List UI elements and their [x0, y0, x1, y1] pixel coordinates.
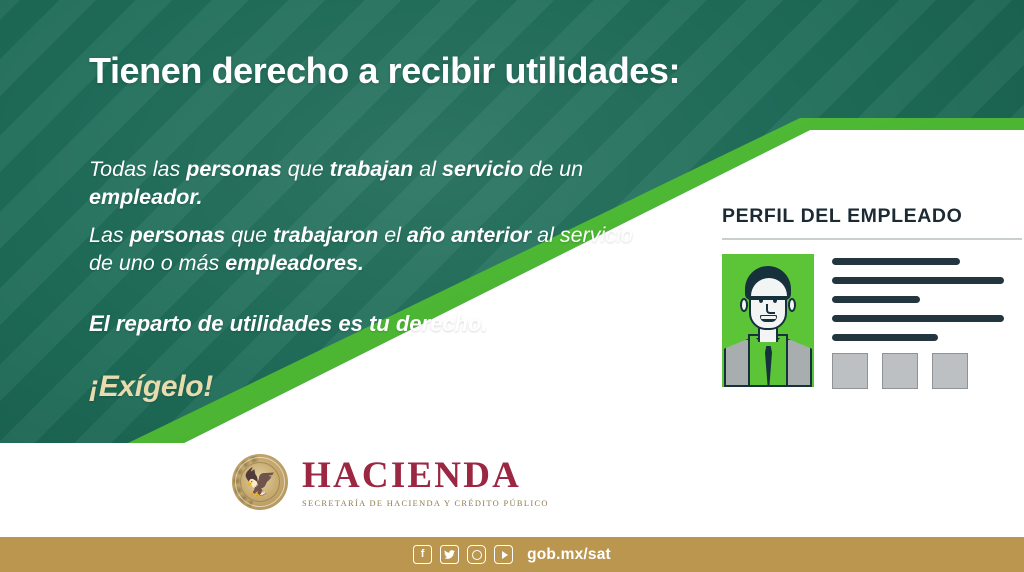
thumbnail-box	[832, 353, 868, 389]
eagle-glyph: 🦅	[243, 470, 277, 497]
paragraph-two: Las personas que trabajaron el año anter…	[89, 222, 659, 278]
youtube-icon[interactable]	[494, 545, 513, 564]
ear-right	[788, 298, 796, 312]
p2-seg5: el	[378, 223, 407, 247]
mouth	[760, 315, 777, 322]
p1-seg1: Todas las	[89, 157, 186, 181]
call-to-action-text: ¡Exígelo!	[89, 367, 213, 406]
nose	[766, 304, 775, 314]
p1-seg4: trabajan	[330, 157, 414, 181]
card-thumbnail-row	[832, 353, 1024, 389]
p1-seg8: empleador.	[89, 185, 203, 209]
paragraph-three: El reparto de utilidades es tu derecho.	[89, 310, 509, 339]
card-detail-lines	[832, 254, 1024, 389]
page-title: Tienen derecho a recibir utilidades:	[89, 50, 919, 92]
p2-seg4: trabajaron	[273, 223, 378, 247]
detail-line	[832, 258, 960, 265]
thumbnail-box	[882, 353, 918, 389]
twitter-icon[interactable]	[440, 545, 459, 564]
ear-left	[740, 298, 748, 312]
logo-strip: 🦅 HACIENDA SECRETARÍA DE HACIENDA Y CRÉD…	[0, 443, 1024, 537]
footer-bar: f gob.mx/sat	[0, 537, 1024, 572]
mexican-eagle-seal-icon: 🦅	[232, 454, 288, 510]
detail-line	[832, 334, 938, 341]
footer-url[interactable]: gob.mx/sat	[527, 546, 611, 564]
p2-seg6: año anterior	[407, 223, 531, 247]
hacienda-name: HACIENDA	[302, 457, 549, 494]
hacienda-wordmark: HACIENDA SECRETARÍA DE HACIENDA Y CRÉDIT…	[302, 457, 549, 508]
hacienda-logo: 🦅 HACIENDA SECRETARÍA DE HACIENDA Y CRÉD…	[232, 454, 549, 510]
card-title: PERFIL DEL EMPLEADO	[722, 205, 1024, 228]
facebook-glyph: f	[421, 549, 425, 560]
p1-seg3: que	[282, 157, 330, 181]
infographic-poster: Tienen derecho a recibir utilidades: Tod…	[0, 0, 1024, 572]
p1-seg2: personas	[186, 157, 282, 181]
instagram-icon[interactable]	[467, 545, 486, 564]
p2-seg8: empleadores.	[225, 251, 364, 275]
employee-id-card: PERFIL DEL EMPLEADO	[722, 205, 1024, 437]
hair	[745, 266, 791, 300]
p1-seg6: servicio	[442, 157, 523, 181]
hacienda-subtitle: SECRETARÍA DE HACIENDA Y CRÉDITO PÚBLICO	[302, 499, 549, 508]
detail-line	[832, 277, 1004, 284]
employee-photo	[722, 254, 814, 387]
p2-seg2: personas	[130, 223, 226, 247]
facebook-icon[interactable]: f	[413, 545, 432, 564]
detail-line	[832, 315, 1004, 322]
card-body	[722, 254, 1024, 389]
instagram-lens	[472, 550, 482, 560]
card-divider	[722, 238, 1022, 240]
p1-seg5: al	[413, 157, 442, 181]
paragraph-one: Todas las personas que trabajan al servi…	[89, 156, 609, 212]
thumbnail-box	[932, 353, 968, 389]
youtube-play-glyph	[502, 551, 508, 559]
p2-seg1: Las	[89, 223, 130, 247]
p2-seg3: que	[225, 223, 273, 247]
p1-seg7: de un	[523, 157, 583, 181]
detail-line	[832, 296, 920, 303]
twitter-bird-glyph	[444, 550, 455, 560]
